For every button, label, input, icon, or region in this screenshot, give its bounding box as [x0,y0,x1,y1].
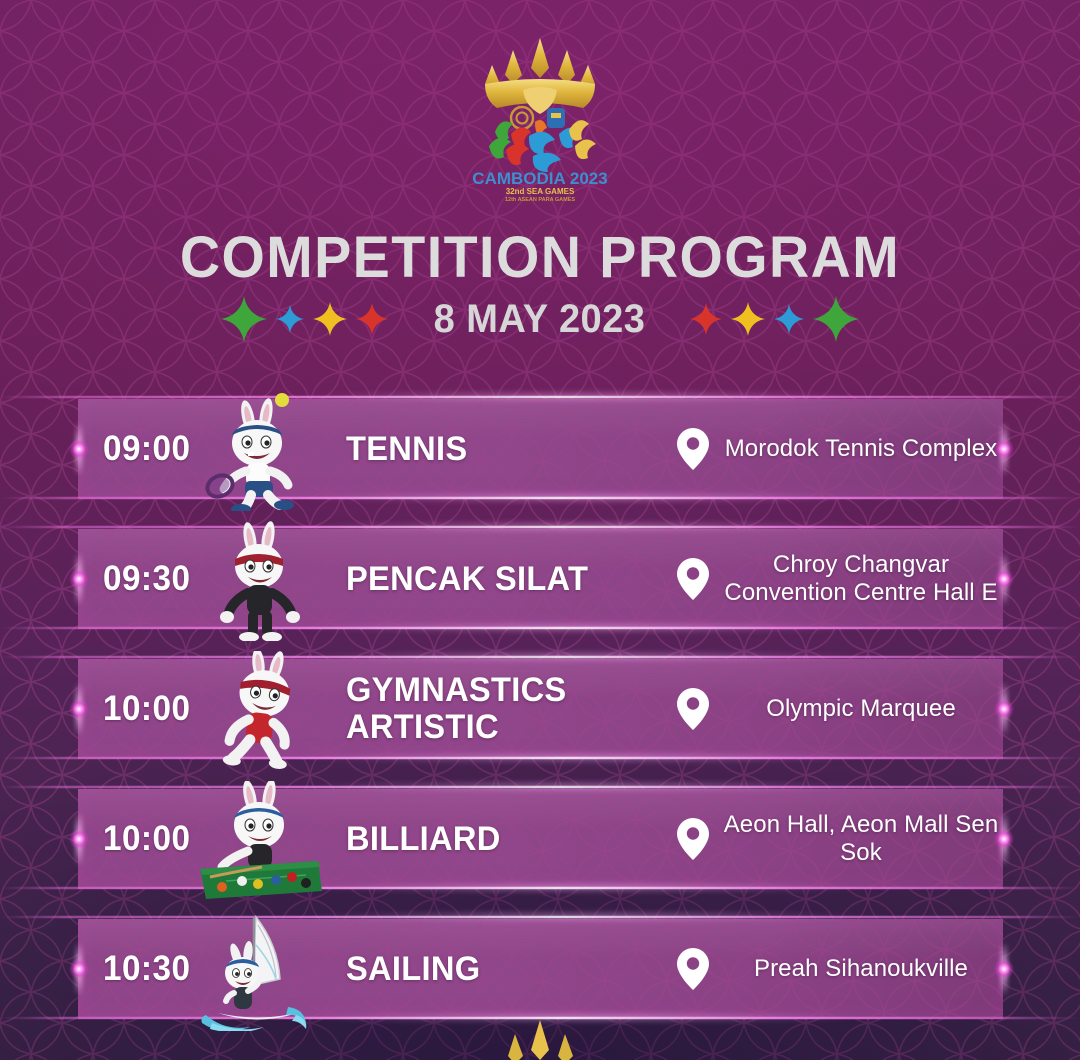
rabbit-tennis-mascot [196,391,326,511]
event-time: 09:00 [103,393,190,505]
event-time: 10:30 [103,913,190,1025]
logo-line2-text: 32nd SEA GAMES [506,187,575,196]
star-cluster-left [221,296,388,342]
star-icon-yellow [313,302,347,336]
event-venue: Olympic Marquee [710,695,1006,723]
event-sport-line: PENCAK SILAT [346,561,588,598]
logo-line3-text: 12th ASEAN PARA GAMES [505,197,575,202]
event-venue: Preah Sihanoukville [710,955,1006,983]
event-sport: GYMNASTICSARTISTIC [346,653,576,765]
competition-program-poster: CAMBODIA 2023 32nd SEA GAMES 12th ASEAN … [0,0,1080,1060]
rabbit-pencak-silat-mascot [196,521,326,641]
event-venue-group: Preah Sihanoukville [676,913,1006,1025]
event-row[interactable]: 09:00 TENNIS Morodok Tennis Complex [0,393,1080,523]
cambodia-2023-sea-games-logo: CAMBODIA 2023 32nd SEA GAMES 12th ASEAN … [465,34,615,202]
event-sport-line: ARTISTIC [346,709,567,746]
event-time: 10:00 [103,653,190,765]
star-cluster-right [690,296,859,342]
star-icon-green [221,296,267,342]
map-pin-icon [676,947,710,991]
program-date: 8 MAY 2023 [433,297,645,342]
event-venue-group: Olympic Marquee [676,653,1006,765]
event-venue-group: Chroy Changvar Convention Centre Hall E [676,523,1006,635]
event-venue: Aeon Hall, Aeon Mall Sen Sok [710,811,1006,866]
bottom-logo-partial [475,1016,605,1060]
rabbit-sailing-mascot [196,911,326,1031]
map-pin-icon [676,427,710,471]
star-icon-blue [774,304,804,334]
map-pin-icon [676,557,710,601]
event-sport: BILLIARD [346,783,507,895]
event-sport: SAILING [346,913,486,1025]
star-icon-red [690,303,722,335]
event-sport-line: GYMNASTICS [346,672,567,709]
page-title: COMPETITION PROGRAM [22,224,1059,291]
event-sport-line: TENNIS [346,431,467,468]
rabbit-billiard-mascot [196,781,326,901]
star-icon-yellow [731,302,765,336]
event-row[interactable]: 09:30 PENCAK SILAT Chroy Changvar Conven… [0,523,1080,653]
event-venue-group: Aeon Hall, Aeon Mall Sen Sok [676,783,1006,895]
event-venue: Chroy Changvar Convention Centre Hall E [710,551,1006,606]
map-pin-icon [676,687,710,731]
rabbit-gymnastics-mascot [196,651,326,771]
event-sport: TENNIS [346,393,472,505]
event-sport-line: SAILING [346,951,480,988]
event-row[interactable]: 10:00 BILLIARD Aeon Hall, Aeon Mall Sen … [0,783,1080,913]
event-schedule-list: 09:00 TENNIS Morodok Tennis Complex [0,393,1080,1043]
event-sport-line: BILLIARD [346,821,501,858]
logo-container: CAMBODIA 2023 32nd SEA GAMES 12th ASEAN … [0,34,1080,202]
event-time: 10:00 [103,783,190,895]
event-venue-group: Morodok Tennis Complex [676,393,1006,505]
date-row: 8 MAY 2023 [0,296,1080,342]
event-row[interactable]: 10:00 GYMNASTICSARTISTIC Olympic Marquee [0,653,1080,783]
event-venue: Morodok Tennis Complex [710,435,1006,463]
logo-line1-text: CAMBODIA 2023 [472,169,607,188]
star-icon-green [813,296,859,342]
star-icon-blue [276,305,304,333]
star-icon-red [356,303,388,335]
event-sport: PENCAK SILAT [346,523,598,635]
event-time: 09:30 [103,523,190,635]
map-pin-icon [676,817,710,861]
